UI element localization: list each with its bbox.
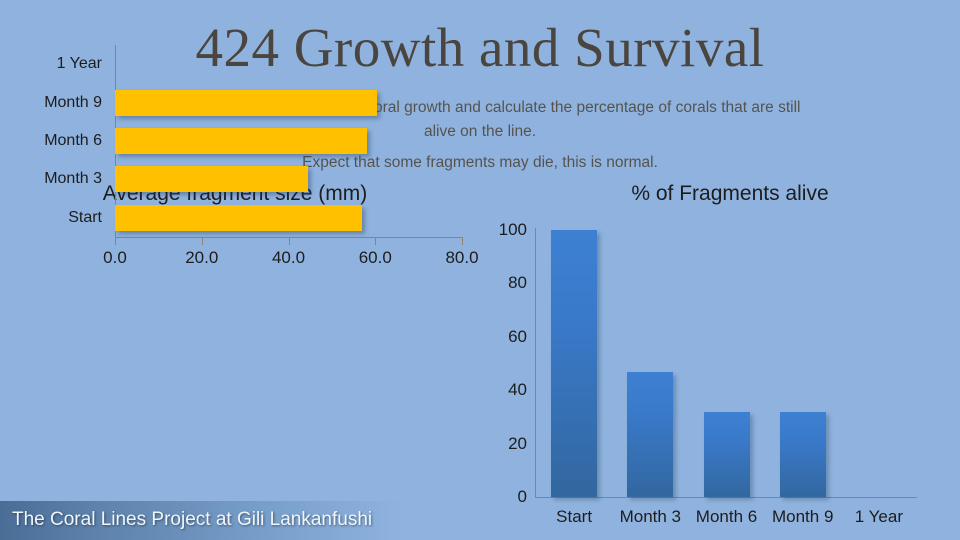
table-row bbox=[115, 90, 377, 116]
left-chart-x-tick-label: 20.0 bbox=[167, 248, 237, 268]
right-chart-y-tick-label: 20 bbox=[483, 434, 527, 454]
table-row bbox=[115, 128, 367, 154]
table-row bbox=[704, 412, 750, 497]
left-chart-category-label: 1 Year bbox=[0, 55, 102, 73]
left-chart-x-tick-label: 40.0 bbox=[254, 248, 324, 268]
left-chart-tick-mark bbox=[375, 238, 376, 245]
right-chart-y-tick-label: 40 bbox=[483, 380, 527, 400]
left-chart-tick-mark bbox=[462, 238, 463, 245]
footer-caption: The Coral Lines Project at Gili Lankanfu… bbox=[12, 509, 372, 531]
left-chart-category-axis: StartMonth 3Month 6Month 91 Year bbox=[0, 45, 102, 237]
right-chart-category-label: 1 Year bbox=[824, 507, 934, 527]
table-row bbox=[115, 166, 308, 192]
table-row bbox=[627, 372, 673, 497]
slide-canvas: 424 Growth and Survival For one year we … bbox=[0, 0, 960, 540]
right-chart-y-tick-label: 0 bbox=[483, 487, 527, 507]
left-chart-tick-mark bbox=[289, 238, 290, 245]
right-chart-y-tick-label: 60 bbox=[483, 327, 527, 347]
left-chart-tick-mark bbox=[202, 238, 203, 245]
left-chart-category-label: Month 3 bbox=[0, 170, 102, 188]
left-chart-x-tick-label: 0.0 bbox=[80, 248, 150, 268]
left-chart-x-tick-label: 60.0 bbox=[340, 248, 410, 268]
page-title: 424 Growth and Survival bbox=[0, 16, 960, 80]
left-chart-tick-mark bbox=[115, 238, 116, 245]
right-chart-y-tick-label: 80 bbox=[483, 273, 527, 293]
left-chart-category-label: Start bbox=[0, 209, 102, 227]
right-chart-value-axis-line bbox=[535, 228, 536, 498]
left-chart-category-label: Month 6 bbox=[0, 132, 102, 150]
right-chart-category-axis-line bbox=[535, 497, 917, 498]
table-row bbox=[780, 412, 826, 497]
chart-title-right: % of Fragments alive bbox=[510, 182, 950, 206]
right-chart-y-tick-label: 100 bbox=[483, 220, 527, 240]
table-row bbox=[551, 230, 597, 497]
left-chart-category-label: Month 9 bbox=[0, 94, 102, 112]
table-row bbox=[115, 205, 362, 231]
